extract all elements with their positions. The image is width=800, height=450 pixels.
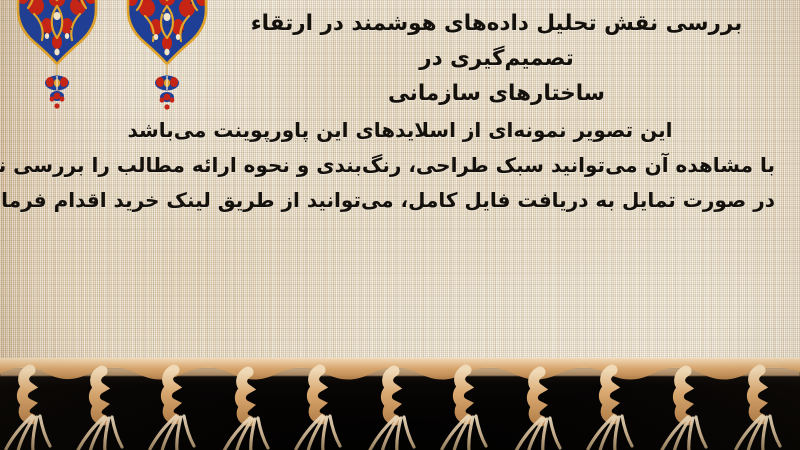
title-line-2: ساختارهای سازمانی [215,76,778,111]
title-line-1: بررسی نقش تحلیل داده‌های هوشمند در ارتقا… [251,11,743,71]
carpet-fringe [0,340,800,450]
body-line-3: در صورت تمایل به دریافت فایل کامل، می‌تو… [25,183,775,218]
slide-canvas: بررسی نقش تحلیل داده‌های هوشمند در ارتقا… [0,0,800,450]
slide-title: بررسی نقش تحلیل داده‌های هوشمند در ارتقا… [215,6,778,111]
body-line-2: با مشاهده آن می‌توانید سبک طراحی، رنگ‌بن… [25,148,775,183]
body-line-1: این تصویر نمونه‌ای از اسلایدهای این پاور… [25,113,775,148]
slide-body: این تصویر نمونه‌ای از اسلایدهای این پاور… [25,113,775,218]
fringe-tassels [6,370,780,450]
